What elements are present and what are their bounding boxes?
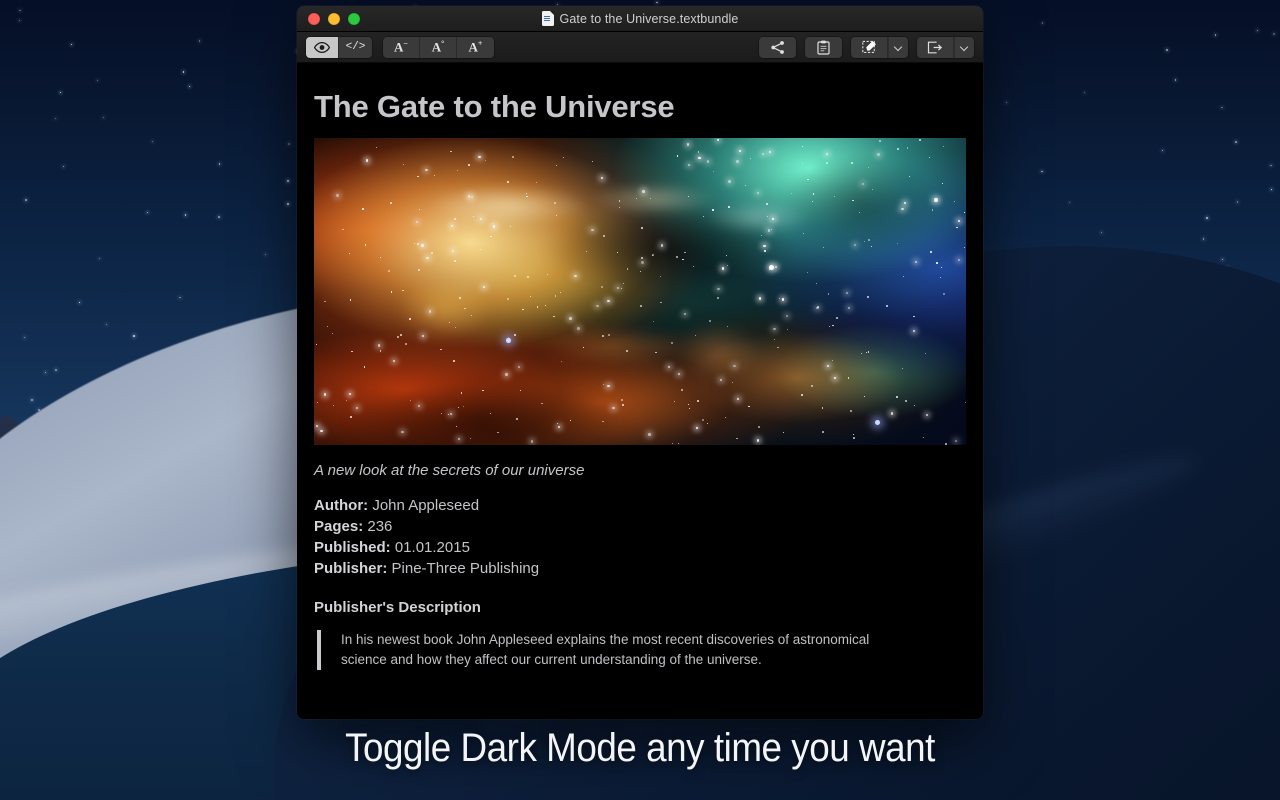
nebula-star: [601, 177, 603, 179]
nebula-star: [864, 241, 865, 242]
nebula-star: [641, 227, 643, 229]
star: [656, 2, 658, 4]
nebula-star: [904, 202, 906, 204]
nebula-star: [879, 140, 881, 142]
nebula-star: [468, 195, 471, 198]
nebula-star: [642, 190, 645, 193]
nebula-star: [596, 305, 599, 308]
star: [1042, 22, 1044, 24]
nebula-star: [640, 305, 642, 307]
nebula-star: [717, 288, 719, 290]
document-icon: [542, 11, 554, 26]
nebula-star: [932, 209, 934, 211]
nebula-star: [750, 158, 752, 160]
nebula-star: [736, 438, 738, 440]
nebula-star: [317, 402, 319, 404]
nebula-star: [545, 305, 546, 306]
code-icon: </>: [346, 41, 366, 53]
nebula-star: [886, 305, 888, 307]
nebula-star: [769, 151, 771, 153]
source-mode-button[interactable]: </>: [339, 37, 372, 58]
nebula-star: [602, 421, 604, 423]
nebula-star: [671, 342, 673, 344]
style-button-inner[interactable]: [851, 37, 888, 58]
nebula-star: [409, 318, 411, 320]
nebula-star: [636, 198, 637, 199]
star: [185, 214, 187, 216]
nebula-star: [897, 243, 898, 244]
star: [1221, 107, 1222, 108]
nebula-star: [650, 198, 651, 199]
nebula-star: [390, 202, 392, 204]
desktop-wallpaper: Gate to the Universe.textbundle </>: [0, 0, 1280, 800]
close-button[interactable]: [308, 13, 320, 25]
nebula-star: [556, 215, 557, 216]
nebula-star: [720, 379, 722, 381]
nebula-star: [822, 431, 824, 433]
nebula-star: [707, 423, 708, 424]
nebula-star: [607, 300, 610, 303]
nebula-star: [648, 433, 651, 436]
nebula-star: [324, 393, 326, 395]
nebula-star: [441, 413, 442, 414]
font-size-segment: A− A° A+: [383, 37, 494, 58]
meta-label-pages: Pages:: [314, 518, 363, 535]
nebula-bright-star: [875, 420, 880, 425]
nebula-star: [516, 418, 518, 420]
nebula-star: [868, 239, 870, 241]
nebula-star: [510, 226, 511, 227]
nebula-star: [862, 183, 864, 185]
nebula-star: [866, 352, 867, 353]
nebula-star: [429, 310, 432, 313]
nebula-star: [621, 288, 622, 289]
meta-row-pages: Pages: 236: [314, 516, 966, 537]
nebula-star: [850, 410, 852, 412]
nebula-star: [660, 276, 661, 277]
nebula-star: [520, 390, 521, 391]
nebula-star: [485, 160, 486, 161]
star: [183, 71, 185, 73]
nebula-star: [852, 200, 854, 202]
star: [1237, 201, 1239, 203]
nebula-star: [807, 179, 808, 180]
page-title: The Gate to the Universe: [297, 89, 983, 125]
nebula-star: [471, 196, 473, 198]
nebula-star: [826, 153, 828, 155]
font-increase-label: A+: [469, 40, 483, 53]
nebula-star: [458, 438, 460, 440]
nebula-star: [320, 430, 323, 433]
nebula-star: [762, 153, 764, 155]
nebula-bright-star: [769, 265, 774, 270]
nebula-star: [726, 255, 727, 256]
star: [287, 203, 289, 205]
nebula-star: [759, 297, 761, 299]
star: [1206, 217, 1208, 219]
nebula-star: [454, 218, 456, 220]
nebula-star: [431, 252, 433, 254]
nebula-star: [902, 368, 903, 369]
nebula-star: [877, 153, 880, 156]
nebula-star: [451, 225, 453, 227]
star: [147, 212, 148, 213]
nebula-star: [459, 297, 461, 299]
nebula-star: [457, 170, 458, 171]
view-mode-segment: </>: [306, 37, 372, 58]
star: [19, 10, 20, 11]
font-decrease-button[interactable]: A−: [383, 37, 420, 58]
nebula-star: [783, 432, 784, 433]
nebula-star: [569, 317, 572, 320]
nebula-star: [627, 268, 629, 270]
nebula-star: [942, 183, 943, 184]
nebula-star: [678, 443, 679, 444]
nebula-star: [440, 349, 442, 351]
nebula-star: [464, 308, 466, 310]
nebula-star: [608, 334, 610, 336]
nebula-star: [696, 427, 698, 429]
star: [1271, 189, 1272, 190]
nebula-star: [416, 221, 418, 223]
nebula-star: [813, 193, 815, 195]
nebula-star: [641, 261, 643, 263]
nebula-star: [774, 339, 776, 341]
nebula-star: [859, 212, 860, 213]
nebula-star: [405, 343, 407, 345]
nebula-star: [388, 270, 390, 272]
nebula-star: [681, 389, 682, 390]
nebula-star: [653, 321, 654, 322]
nebula-star: [349, 253, 350, 254]
nebula-star: [547, 274, 548, 275]
nebula-star: [861, 353, 862, 354]
nebula-star: [619, 200, 620, 201]
nebula-star: [923, 437, 924, 438]
nebula-star: [350, 416, 352, 418]
star: [1222, 259, 1223, 260]
nebula-star: [773, 328, 775, 330]
nebula-star: [956, 227, 957, 228]
nebula-star: [507, 298, 509, 300]
meta-label-published: Published:: [314, 539, 391, 556]
nebula-star: [478, 156, 480, 158]
nebula-star: [461, 392, 463, 394]
nebula-star: [448, 414, 449, 415]
nebula-star: [555, 295, 556, 296]
nebula-star: [526, 196, 528, 198]
nebula-star: [602, 335, 604, 337]
nebula-star: [362, 208, 364, 210]
nebula-star: [684, 252, 686, 254]
export-dropdown-toggle[interactable]: [954, 37, 974, 58]
star: [19, 20, 21, 22]
nebula-star: [807, 272, 808, 273]
star: [60, 92, 61, 93]
nebula-star: [490, 413, 491, 414]
export-button[interactable]: [917, 37, 974, 58]
nebula-star: [834, 377, 836, 379]
eye-icon: [314, 42, 330, 53]
document-preview[interactable]: The Gate to the Universe A new look at t…: [297, 63, 983, 719]
nebula-star: [612, 407, 615, 410]
nebula-star: [836, 317, 838, 319]
nebula-star: [514, 275, 516, 277]
nebula-star: [561, 361, 562, 362]
nebula-star: [786, 315, 788, 317]
nebula-star: [556, 165, 557, 166]
nebula-star: [688, 164, 690, 166]
marketing-caption: Toggle Dark Mode any time you want: [51, 726, 1229, 771]
nebula-image: [314, 138, 966, 445]
star: [218, 216, 220, 218]
nebula-star: [603, 384, 605, 386]
nebula-star: [958, 220, 960, 222]
nebula-star: [454, 260, 456, 262]
nebula-star: [418, 405, 420, 407]
nebula-star: [757, 439, 760, 442]
nebula-star: [684, 313, 686, 315]
nebula-star: [449, 322, 451, 324]
style-dropdown-toggle[interactable]: [888, 37, 908, 58]
chevron-down-icon: [895, 44, 902, 51]
export-button-inner[interactable]: [917, 37, 954, 58]
star: [63, 166, 64, 167]
nebula-star: [421, 244, 423, 246]
nebula-star: [332, 333, 333, 334]
nebula-star: [853, 434, 854, 435]
meta-value-pages: 236: [367, 518, 392, 535]
nebula-star: [380, 350, 381, 351]
nebula-star: [964, 247, 965, 248]
copy-button[interactable]: [805, 37, 842, 58]
nebula-star: [554, 202, 556, 204]
nebula-star: [739, 150, 741, 152]
nebula-star: [422, 335, 424, 337]
nebula-star: [907, 147, 908, 148]
nebula-star: [748, 406, 750, 408]
nebula-star: [574, 275, 577, 278]
nebula-star: [623, 283, 624, 284]
star: [1175, 79, 1177, 81]
nebula-star: [727, 326, 728, 327]
nebula-star: [736, 160, 739, 163]
nebula-star: [514, 334, 516, 336]
nebula-star: [674, 401, 675, 402]
nebula-star: [391, 291, 393, 293]
nebula-star: [823, 247, 824, 248]
nebula-star: [410, 400, 411, 401]
description-blockquote: In his newest book John Appleseed explai…: [317, 630, 877, 670]
nebula-star: [471, 315, 472, 316]
nebula-star: [771, 229, 772, 230]
star: [1166, 49, 1168, 51]
nebula-star: [655, 352, 657, 354]
nebula-star: [905, 400, 907, 402]
nebula-star: [775, 266, 777, 268]
nebula-star: [891, 412, 893, 414]
nebula-star: [864, 396, 865, 397]
nebula-star: [463, 406, 465, 408]
nebula-star: [943, 293, 945, 295]
star: [179, 297, 181, 299]
nebula-star: [940, 277, 941, 278]
nebula-star: [507, 181, 509, 183]
nebula-star: [868, 167, 869, 168]
nebula-star: [811, 385, 813, 387]
nebula-star: [689, 408, 690, 409]
star: [71, 44, 72, 45]
nebula-star: [526, 193, 528, 195]
nebula-star: [817, 306, 819, 308]
star: [1101, 232, 1102, 233]
window-title-group: Gate to the Universe.textbundle: [297, 6, 983, 31]
nebula-star: [958, 259, 961, 262]
share-button[interactable]: [759, 37, 796, 58]
nebula-star: [450, 413, 452, 415]
nebula-star: [919, 139, 921, 141]
nebula-star: [767, 216, 768, 217]
nebula-star: [456, 426, 457, 427]
nebula-star: [897, 148, 899, 150]
share-icon: [771, 41, 785, 54]
meta-row-published: Published: 01.01.2015: [314, 537, 966, 558]
nebula-star: [766, 203, 768, 205]
window-titlebar: Gate to the Universe.textbundle: [297, 6, 983, 32]
star: [1203, 238, 1204, 239]
traffic-light-group: [297, 13, 360, 25]
minimize-button[interactable]: [328, 13, 340, 25]
nebula-star: [452, 250, 454, 252]
nebula-star: [698, 157, 700, 159]
nebula-star: [727, 265, 728, 266]
nebula-star: [414, 243, 415, 244]
nebula-star: [470, 438, 471, 439]
nebula-star: [717, 297, 719, 299]
nebula-bright-star: [934, 198, 938, 202]
nebula-star: [380, 257, 381, 258]
nebula-star: [707, 160, 709, 162]
description-heading: Publisher's Description: [297, 579, 983, 616]
nebula-star: [693, 266, 694, 267]
meta-value-published: 01.01.2015: [395, 539, 470, 556]
meta-value-author: John Appleseed: [372, 497, 479, 514]
nebula-star: [607, 385, 610, 388]
nebula-star: [617, 287, 620, 290]
nebula-star: [419, 209, 420, 210]
clipboard-icon: [817, 40, 830, 55]
document-subtitle: A new look at the secrets of our univers…: [297, 445, 983, 479]
star: [31, 399, 33, 401]
nebula-star: [725, 417, 726, 418]
font-increase-button[interactable]: A+: [457, 37, 494, 58]
nebula-star: [316, 344, 317, 345]
nebula-star: [537, 306, 538, 307]
nebula-star: [522, 309, 524, 311]
nebula-star: [913, 330, 915, 332]
zoom-button[interactable]: [348, 13, 360, 25]
nebula-star: [757, 192, 759, 194]
copy-button-inner[interactable]: [805, 37, 842, 58]
nebula-star: [787, 329, 788, 330]
font-reset-button[interactable]: A°: [420, 37, 457, 58]
share-button-inner[interactable]: [759, 37, 796, 58]
nebula-star: [483, 286, 485, 288]
meta-row-author: Author: John Appleseed: [314, 495, 966, 516]
nebula-star: [426, 169, 428, 171]
nebula-star: [678, 373, 680, 375]
nebula-star: [668, 366, 670, 368]
star: [219, 163, 221, 165]
nebula-star: [929, 157, 930, 158]
nebula-star: [868, 351, 869, 352]
nebula-star: [505, 373, 507, 375]
nebula-star: [779, 298, 780, 299]
nebula-star: [763, 245, 765, 247]
meta-label-author: Author:: [314, 497, 368, 514]
star: [1270, 165, 1272, 167]
style-button[interactable]: [851, 37, 908, 58]
markup-pencil-icon: [862, 40, 877, 54]
nebula-star: [867, 296, 869, 298]
font-reset-label: A°: [432, 40, 445, 53]
nebula-star: [351, 351, 353, 353]
nebula-star: [660, 302, 662, 304]
star: [24, 337, 25, 338]
nebula-star: [903, 276, 904, 277]
nebula-star: [851, 162, 853, 164]
nebula-star: [915, 261, 917, 263]
nebula-star: [713, 171, 714, 172]
nebula-star: [493, 225, 496, 228]
toolbar: </> A− A° A+: [297, 32, 983, 63]
star: [106, 324, 107, 325]
nebula-star: [640, 271, 642, 273]
nebula-star: [621, 399, 623, 401]
nebula-star: [697, 400, 699, 402]
star: [1215, 34, 1217, 36]
meta-row-publisher: Publisher: Pine-Three Publishing: [314, 558, 966, 579]
star: [1041, 171, 1043, 173]
nebula-star: [672, 443, 673, 444]
star: [189, 86, 190, 87]
nebula-star: [687, 143, 689, 145]
star: [97, 80, 98, 81]
nebula-star: [393, 360, 395, 362]
nebula-star: [832, 360, 833, 361]
star: [1235, 141, 1237, 143]
nebula-star: [346, 400, 347, 401]
nebula-star: [583, 347, 584, 348]
preview-mode-button[interactable]: [306, 37, 339, 58]
nebula-star: [965, 402, 966, 403]
star: [1273, 33, 1275, 35]
nebula-star: [698, 151, 700, 153]
nebula-star: [480, 218, 482, 220]
nebula-star: [349, 393, 351, 395]
metadata-list: Author: John Appleseed Pages: 236 Publis…: [297, 479, 983, 579]
nebula-star: [400, 334, 402, 336]
nebula-star: [401, 431, 404, 434]
nebula-star: [688, 196, 689, 197]
nebula-star: [490, 236, 492, 238]
nebula-star: [531, 440, 533, 442]
nebula-star: [768, 229, 770, 231]
nebula-star: [703, 216, 704, 217]
nebula-star: [943, 146, 944, 147]
nebula-star: [676, 256, 678, 258]
nebula-star: [336, 194, 338, 196]
